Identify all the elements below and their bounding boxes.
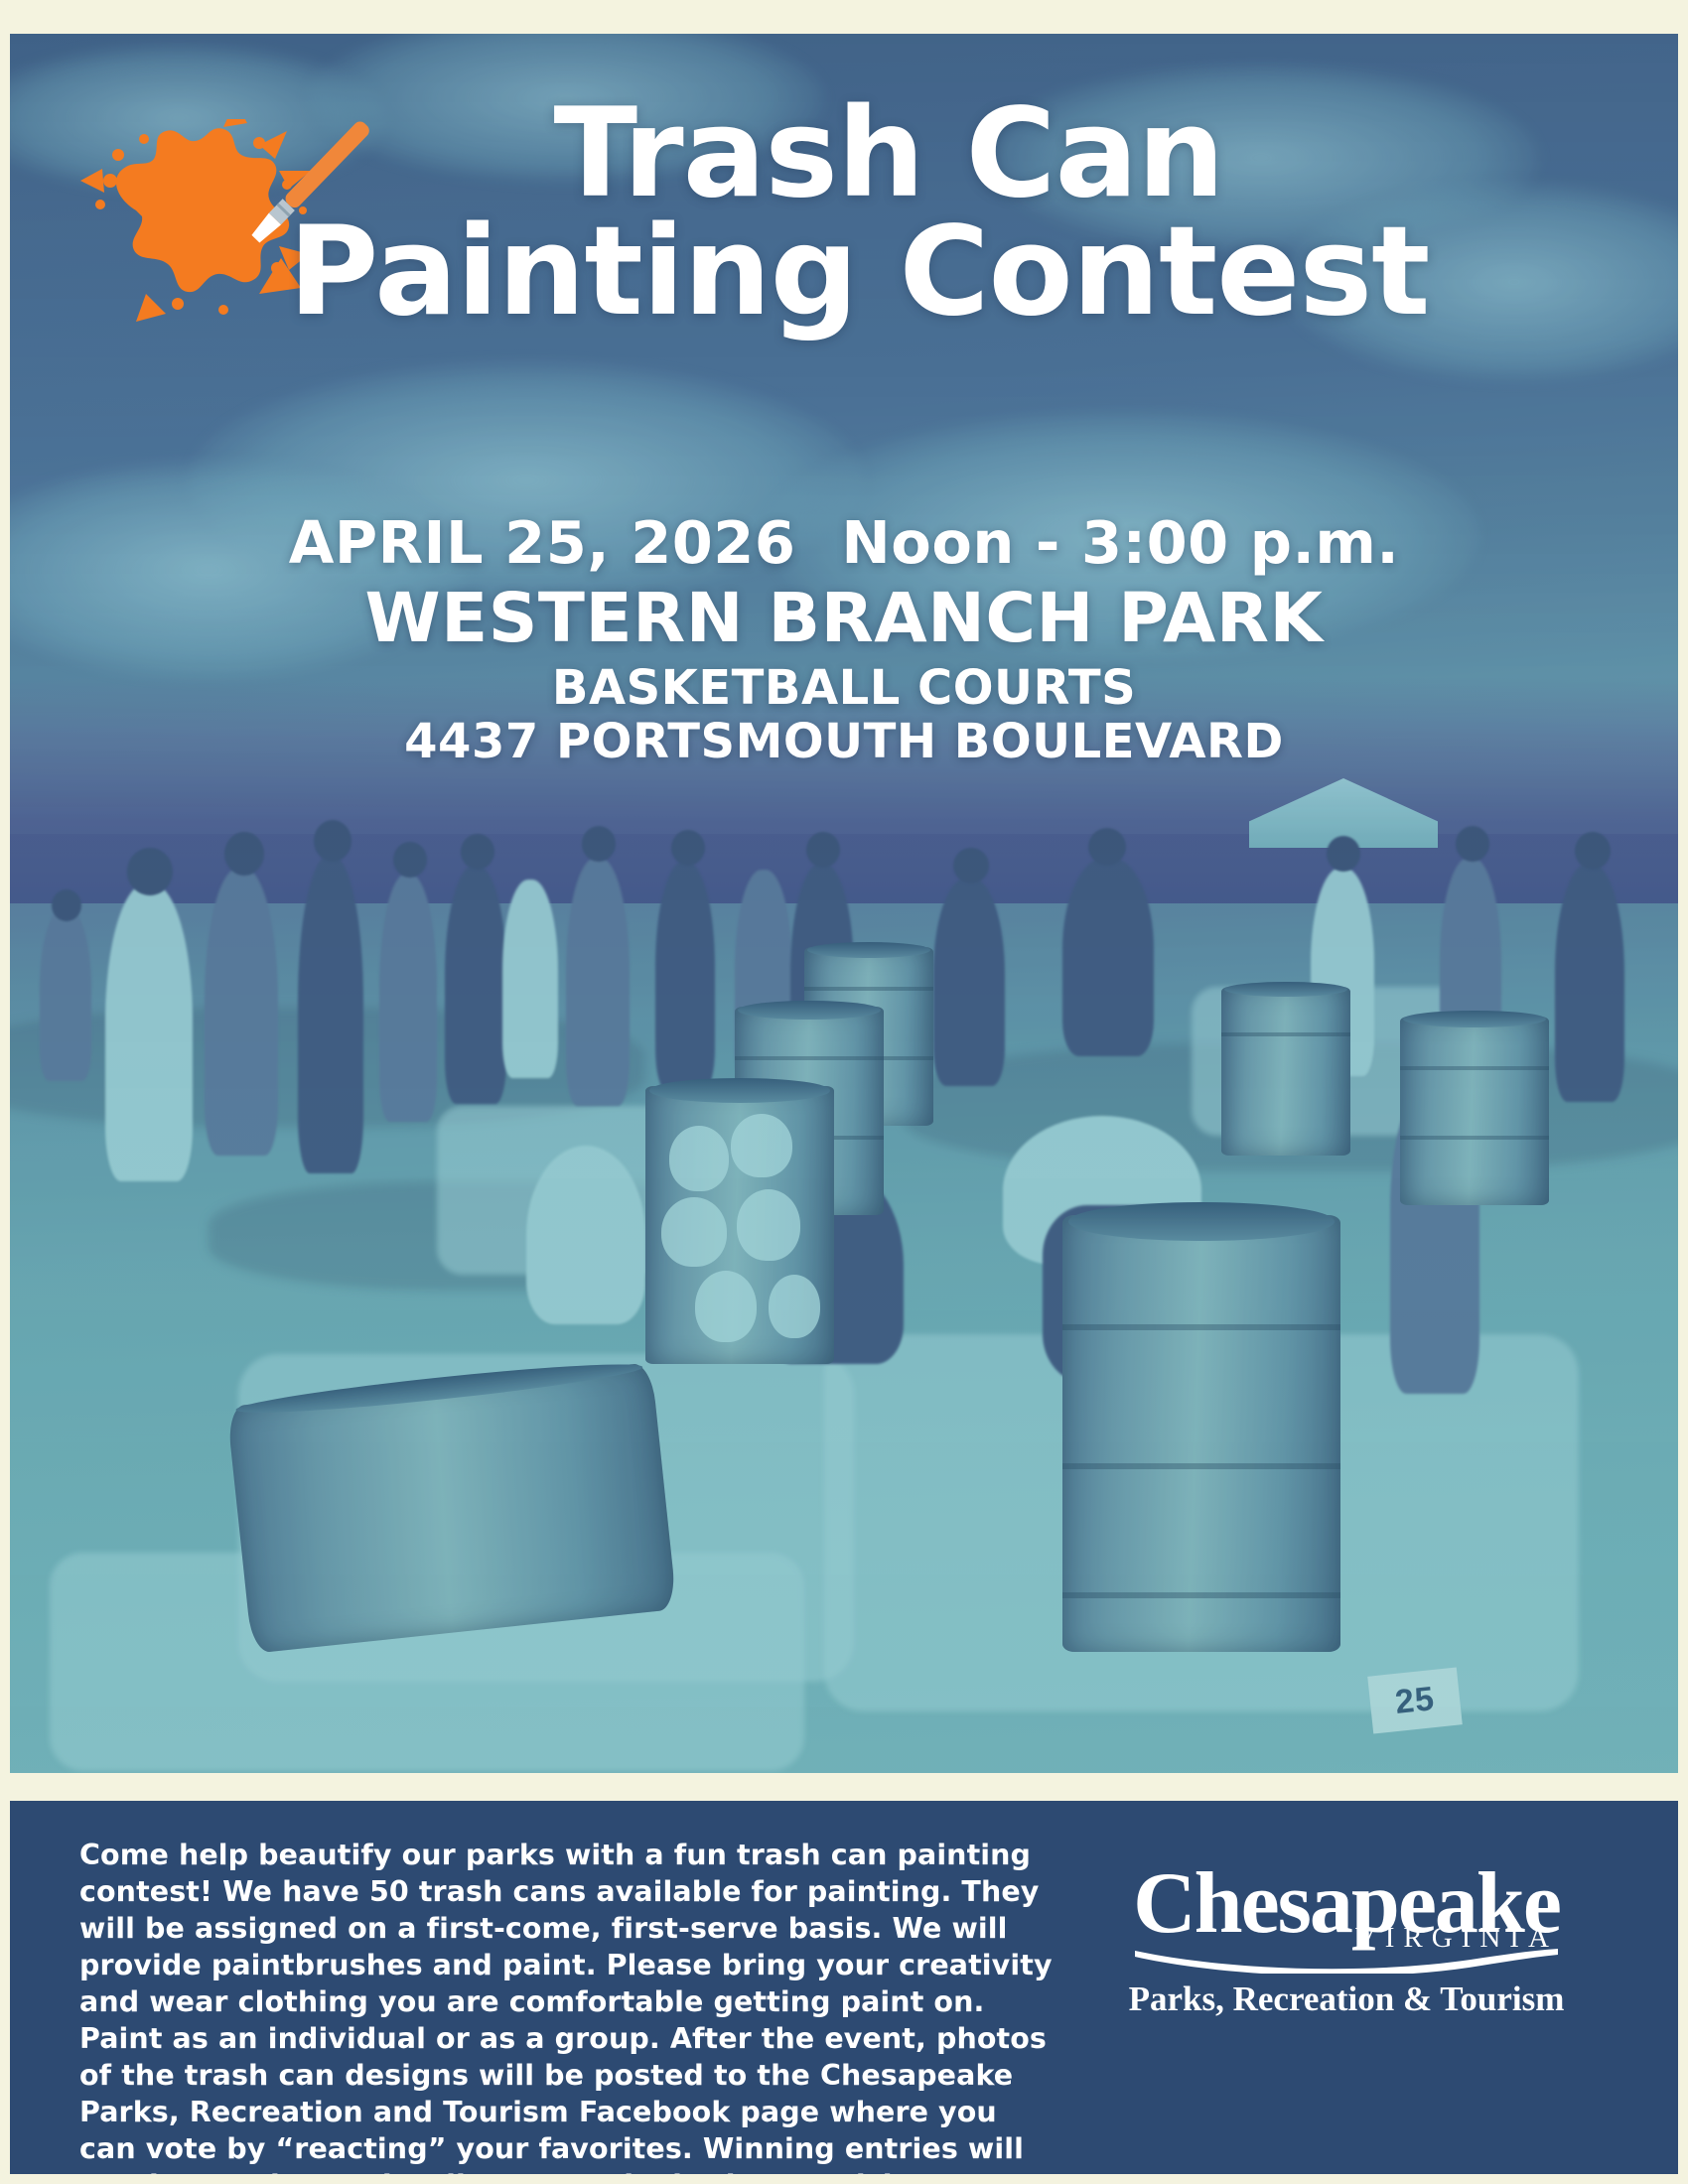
title-line-2: Painting Contest xyxy=(0,213,1688,332)
footer-description: Come help beautify our parks with a fun … xyxy=(10,1801,1062,2184)
logo-wordmark: Chesapeake VIRGINIA xyxy=(1133,1862,1560,1946)
trash-can xyxy=(1221,987,1350,1156)
event-details: APRIL 25, 2026 Noon - 3:00 p.m. WESTERN … xyxy=(0,508,1688,769)
person-head xyxy=(671,830,705,866)
person-head xyxy=(314,820,352,862)
person-head xyxy=(806,832,840,868)
person-head xyxy=(393,842,427,878)
person-silhouette xyxy=(379,874,437,1122)
person-head xyxy=(1456,826,1489,862)
frame-border-bottom xyxy=(0,2174,1688,2184)
frame-border-left xyxy=(0,0,10,2184)
person-head xyxy=(127,848,173,895)
event-time: Noon - 3:00 p.m. xyxy=(841,508,1399,577)
trash-can-foreground xyxy=(1062,1215,1340,1652)
person-head xyxy=(224,832,264,876)
trash-can-flower-design xyxy=(645,1086,834,1364)
person-silhouette xyxy=(445,866,506,1104)
chesapeake-logo: Chesapeake VIRGINIA Parks, Recreation & … xyxy=(1062,1801,1678,2019)
person-silhouette xyxy=(1555,864,1624,1102)
event-address: 4437 PORTSMOUTH BOULEVARD xyxy=(0,714,1688,769)
person-head xyxy=(1088,828,1126,866)
person-head xyxy=(52,889,81,921)
person-silhouette xyxy=(502,880,558,1078)
person-head xyxy=(461,834,494,870)
trash-can-tipped xyxy=(226,1362,677,1654)
person-head xyxy=(1575,832,1611,870)
person-silhouette xyxy=(105,884,193,1181)
trash-can xyxy=(1400,1017,1549,1205)
person-silhouette xyxy=(205,868,278,1156)
person-head xyxy=(1327,836,1360,872)
frame-border-top xyxy=(0,0,1688,34)
person-silhouette xyxy=(298,856,363,1173)
title-line-1: Trash Can xyxy=(0,95,1688,213)
frame-divider-band xyxy=(0,1773,1688,1801)
person-silhouette xyxy=(655,862,715,1090)
poster-canvas: 25 xyxy=(0,0,1688,2184)
logo-state-name: VIRGINIA xyxy=(1355,1925,1558,1953)
person-silhouette xyxy=(933,878,1005,1086)
event-date: APRIL 25, 2026 xyxy=(289,508,796,577)
event-venue: WESTERN BRANCH PARK xyxy=(0,579,1688,658)
event-venue-detail: BASKETBALL COURTS xyxy=(0,660,1688,716)
person-head xyxy=(582,826,616,862)
can-number-card: 25 xyxy=(1367,1667,1463,1733)
footer-bar: Come help beautify our parks with a fun … xyxy=(10,1801,1678,2174)
person-head xyxy=(953,848,989,884)
logo-tagline: Parks, Recreation & Tourism xyxy=(1129,1979,1565,2019)
page-title: Trash Can Painting Contest xyxy=(0,95,1688,332)
person-silhouette xyxy=(1062,858,1154,1056)
event-date-time-row: APRIL 25, 2026 Noon - 3:00 p.m. xyxy=(0,508,1688,577)
person-silhouette xyxy=(566,858,630,1106)
person-silhouette xyxy=(526,1146,645,1324)
person-silhouette xyxy=(40,907,91,1081)
frame-border-right xyxy=(1678,0,1688,2184)
